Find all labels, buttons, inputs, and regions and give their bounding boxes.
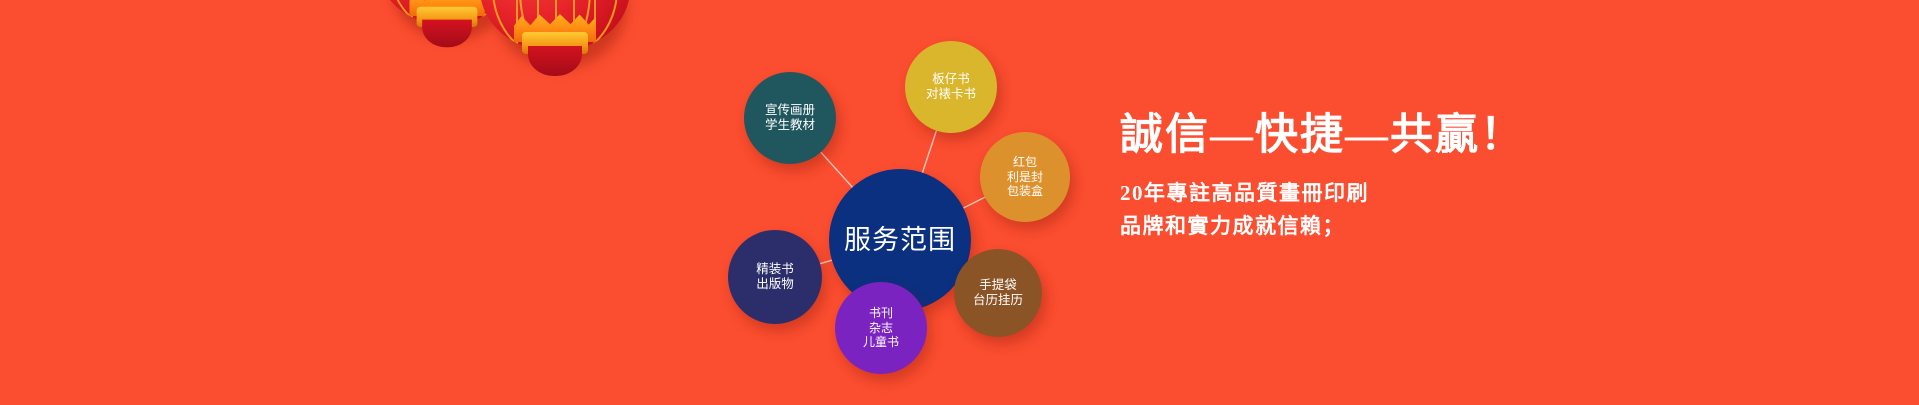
bubble-label-line: 精装书 [756,262,794,277]
bubble-handbags-calendars[interactable]: 手提袋台历挂历 [954,249,1042,337]
bubble-label-line: 包装盒 [1007,184,1043,199]
bubble-label-line: 儿童书 [863,335,899,350]
slogan-subline-1: 20年專註高品質畫冊印刷 [1120,177,1680,210]
slogan-block: 誠信—快捷—共贏！ 20年專註高品質畫冊印刷 品牌和實力成就信賴； [1120,112,1680,242]
bubble-label-line: 杂志 [869,321,893,336]
bubble-label-line: 利是封 [1007,170,1043,185]
bubble-label-line: 对裱卡书 [926,87,976,102]
bubble-label-line: 宣传画册 [765,103,815,118]
bubble-center-label: 服务范围 [844,224,956,257]
connector-line-board-books [922,131,936,173]
bubble-board-books[interactable]: 板仔书对裱卡书 [905,41,997,133]
slogan-headline: 誠信—快捷—共贏！ [1120,112,1680,159]
bubble-label-line: 出版物 [756,277,794,292]
bubble-label-line: 书刊 [869,306,893,321]
promo-banner: 服务范围宣传画册学生教材板仔书对裱卡书红包利是封包装盒手提袋台历挂历书刊杂志儿童… [0,0,1919,405]
connector-line-promo-books [821,152,853,187]
bubble-label-line: 台历挂历 [973,293,1023,308]
bubble-label-line: 学生教材 [765,118,815,133]
bubble-hardcover[interactable]: 精装书出版物 [728,230,822,324]
bubble-label-line: 板仔书 [932,72,970,87]
bubble-label-line: 手提袋 [979,278,1017,293]
slogan-subline-2: 品牌和實力成就信賴； [1120,210,1680,243]
bubble-promo-books[interactable]: 宣传画册学生教材 [744,72,836,164]
bubble-label-line: 红包 [1013,155,1037,170]
connector-line-hardcover [820,260,832,264]
bubble-red-packets[interactable]: 红包利是封包装盒 [980,132,1070,222]
bubble-periodicals[interactable]: 书刊杂志儿童书 [835,282,927,374]
connector-line-red-packets [963,197,984,208]
